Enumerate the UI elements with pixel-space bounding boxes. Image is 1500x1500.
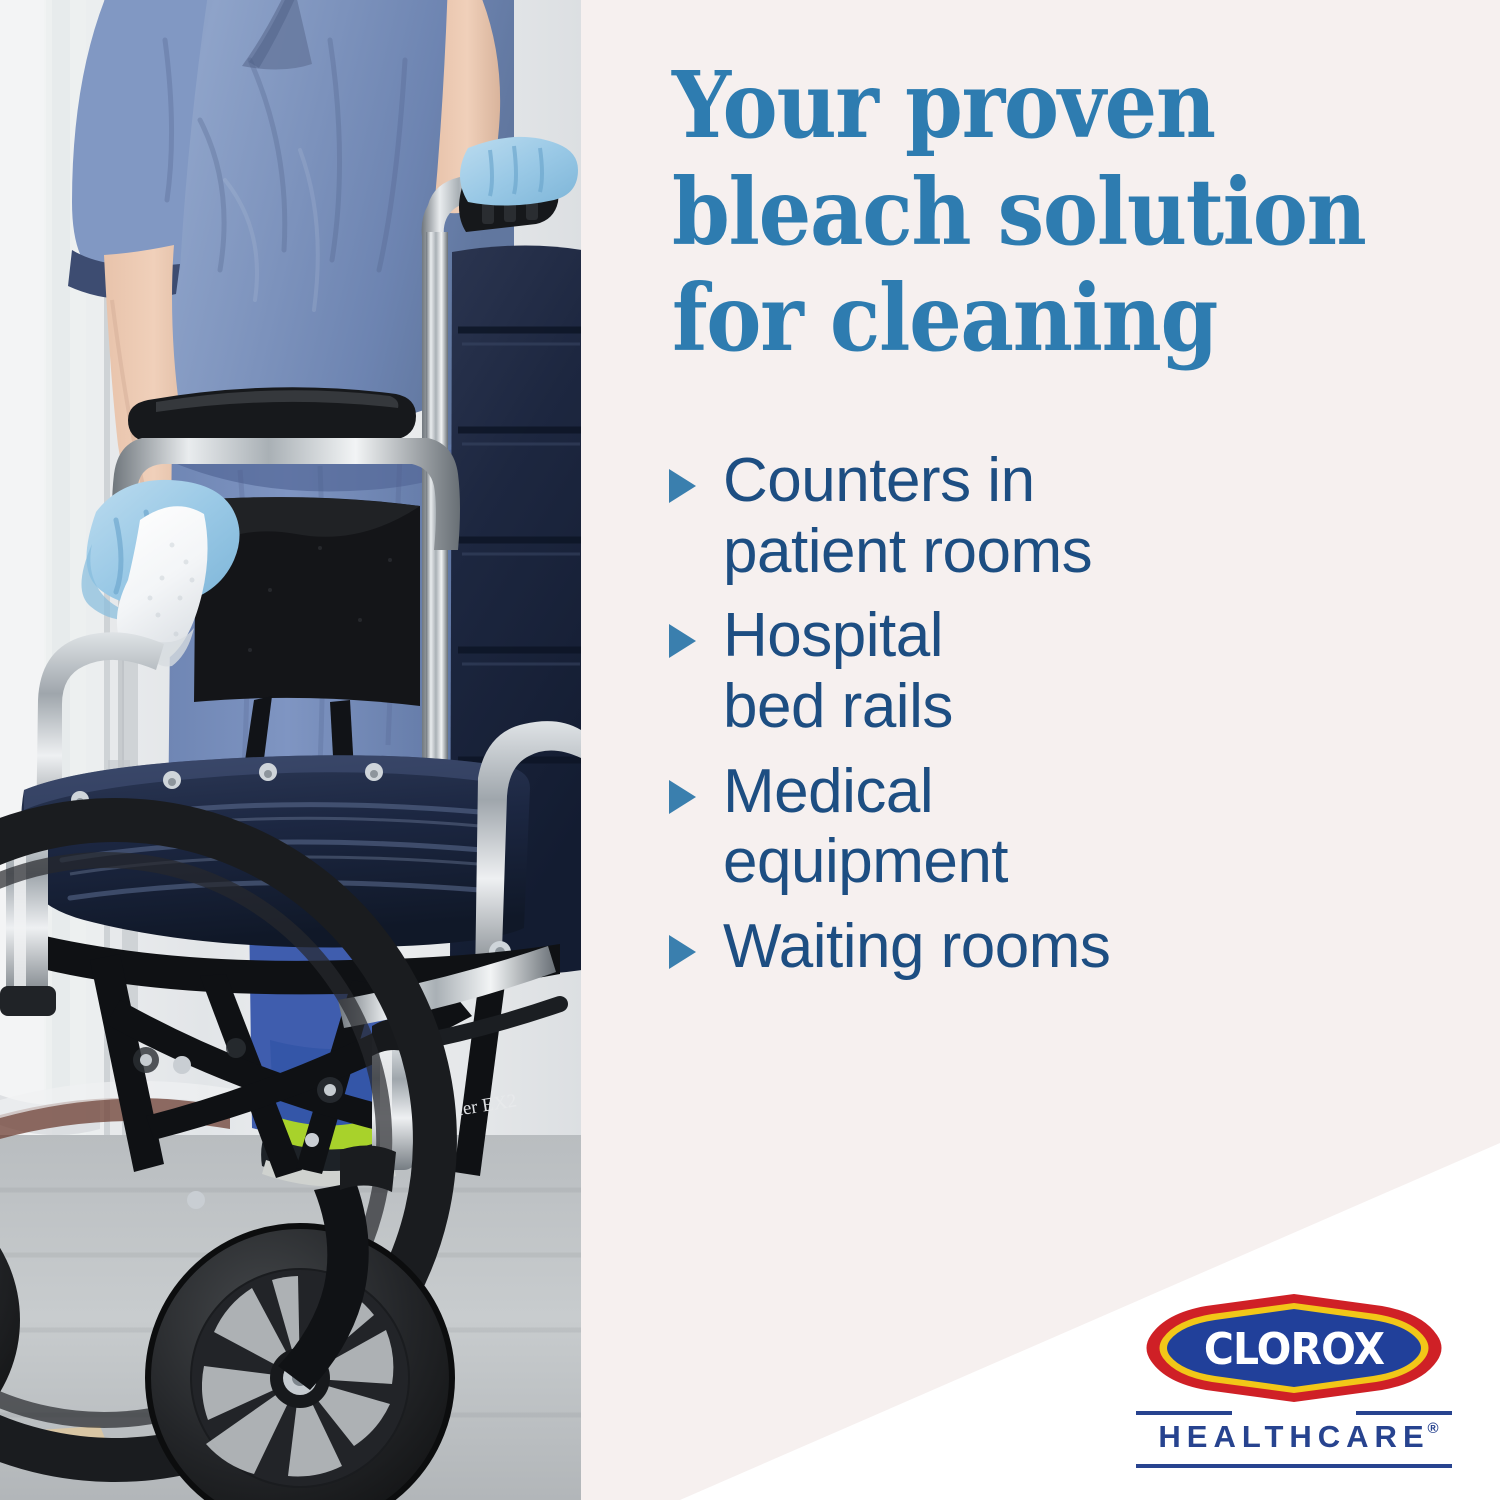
bullet-0-line-0: Counters in xyxy=(723,446,1092,517)
bullet-2-line-1: equipment xyxy=(723,827,1008,898)
list-item: Medical equipment xyxy=(667,757,1457,898)
list-item: Counters in patient rooms xyxy=(667,446,1457,587)
headline-line-3: for cleaning xyxy=(672,265,1392,372)
triangle-right-icon xyxy=(667,932,701,968)
list-item: Waiting rooms xyxy=(667,912,1457,983)
logo-rule-left xyxy=(1136,1411,1232,1415)
page-title: Your proven bleach solution for cleaning xyxy=(672,52,1392,372)
clorox-diamond-icon: CLOROX xyxy=(1147,1294,1442,1402)
clorox-wordmark: CLOROX xyxy=(1204,1325,1384,1376)
clorox-healthcare-logo-mark: CLOROX HEALTHCARE ® xyxy=(1136,1292,1452,1470)
poster-canvas: Tracer EX2 xyxy=(0,0,1500,1500)
bullet-1-line-1: bed rails xyxy=(723,672,953,743)
clorox-healthcare-logo: CLOROX HEALTHCARE ® xyxy=(1136,1292,1452,1470)
list-item-label: Medical equipment xyxy=(723,757,1008,898)
triangle-right-icon xyxy=(667,466,701,502)
headline-line-1: Your proven xyxy=(672,52,1392,159)
triangle-right-icon xyxy=(667,621,701,657)
hero-photo-illustration: Tracer EX2 xyxy=(0,0,581,1500)
bullet-0-line-1: patient rooms xyxy=(723,517,1092,588)
logo-rule-bottom xyxy=(1136,1464,1452,1468)
triangle-right-icon xyxy=(667,777,701,813)
list-item-label: Counters in patient rooms xyxy=(723,446,1092,587)
logo-rule-right xyxy=(1356,1411,1452,1415)
benefits-list: Counters in patient rooms Hospital bed r… xyxy=(667,446,1457,983)
registered-trademark-icon: ® xyxy=(1427,1420,1438,1437)
hero-photo: Tracer EX2 xyxy=(0,0,581,1500)
bullet-3-line-0: Waiting rooms xyxy=(723,912,1110,983)
healthcare-wordmark: HEALTHCARE xyxy=(1158,1419,1429,1454)
content-column: Your proven bleach solution for cleaning… xyxy=(581,0,1500,1500)
headline-line-2: bleach solution xyxy=(672,159,1392,266)
list-item: Hospital bed rails xyxy=(667,601,1457,742)
bullet-1-line-0: Hospital xyxy=(723,601,953,672)
bullet-2-line-0: Medical xyxy=(723,757,1008,828)
list-item-label: Hospital bed rails xyxy=(723,601,953,742)
list-item-label: Waiting rooms xyxy=(723,912,1110,983)
